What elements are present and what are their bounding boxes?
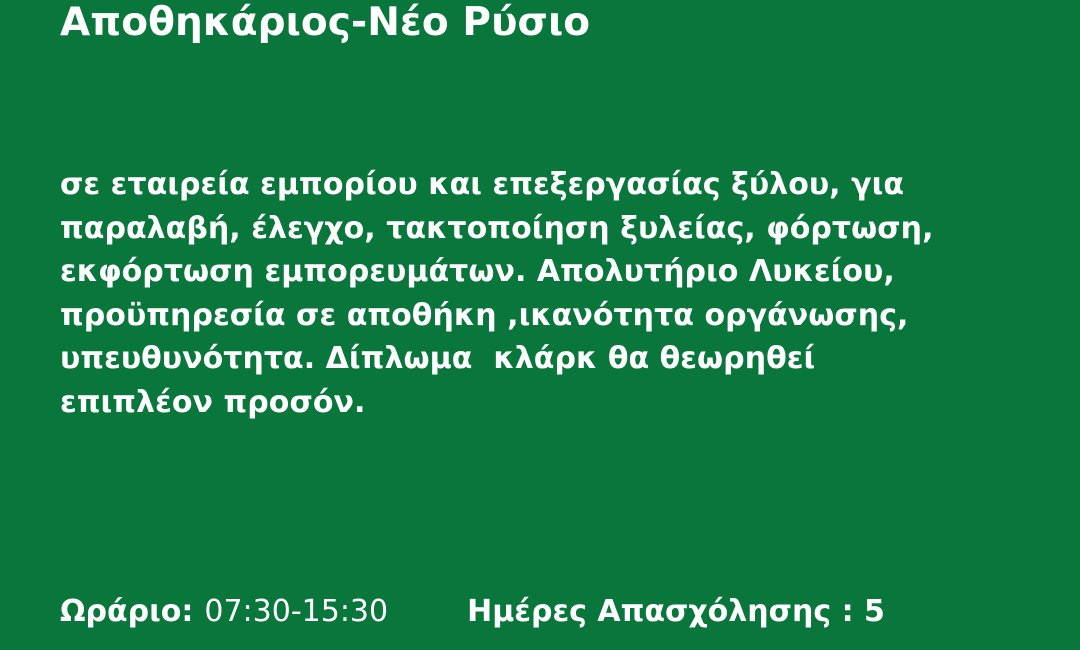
workdays-label: Ημέρες Απασχόλησης : [467,592,853,632]
schedule-meta: Ωράριο: 07:30-15:30 [60,592,388,632]
schedule-value: 07:30-15:30 [204,592,388,632]
workdays-meta: Ημέρες Απασχόλησης : 5 [467,592,885,632]
job-description: σε εταιρεία εμπορίου και επεξεργασίας ξύ… [60,163,965,424]
job-posting-card: Αποθηκάριος-Νέο Ρύσιο σε εταιρεία εμπορί… [0,0,1080,650]
schedule-label: Ωράριο: [60,592,193,632]
workdays-value: 5 [854,592,885,632]
job-meta-footer: Ωράριο: 07:30-15:30 Ημέρες Απασχόλησης :… [60,592,1020,632]
page-title: Αποθηκάριος-Νέο Ρύσιο [60,0,1020,50]
